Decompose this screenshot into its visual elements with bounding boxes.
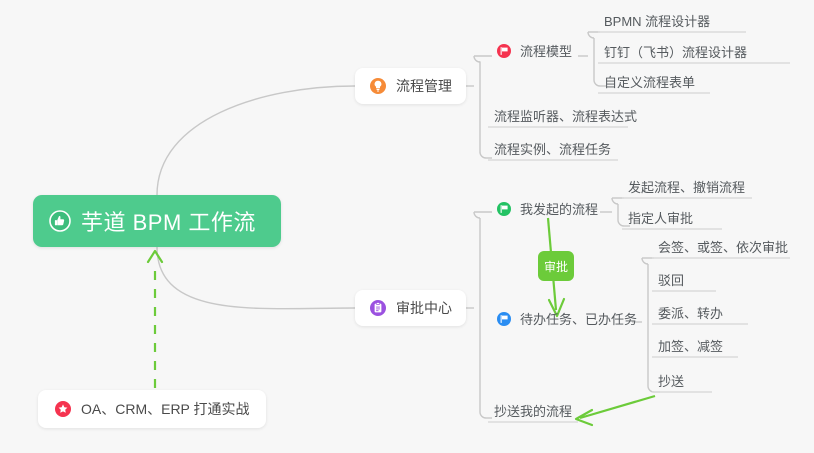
node-countersign[interactable]: 会签、或签、依次审批 (652, 234, 794, 258)
label-countersign: 会签、或签、依次审批 (658, 240, 788, 255)
branch-card-approval-center[interactable]: 审批中心 (355, 290, 466, 326)
lightbulb-icon (369, 77, 387, 95)
node-cc[interactable]: 抄送 (652, 368, 690, 392)
arrow-callout-to-root (148, 251, 162, 388)
label-process-model: 流程模型 (520, 44, 572, 59)
label-custom-form: 自定义流程表单 (604, 75, 695, 90)
node-todo-done-tasks[interactable]: 待办任务、已办任务 (490, 306, 643, 330)
label-todo-done-tasks: 待办任务、已办任务 (520, 312, 637, 327)
edge-root-to-approval-center (157, 247, 355, 309)
label-assignee-approval: 指定人审批 (628, 211, 693, 226)
label-reject: 驳回 (658, 273, 684, 288)
label-my-initiated-process: 我发起的流程 (520, 202, 598, 217)
node-process-model[interactable]: 流程模型 (490, 38, 578, 62)
edge-pm-corner-top (474, 56, 480, 62)
flag-icon-red (496, 43, 512, 59)
branch-label-process-management: 流程管理 (396, 76, 452, 96)
edge-pm-corner-bottom (480, 152, 486, 158)
node-add-remove-sign[interactable]: 加签、减签 (652, 333, 729, 357)
node-custom-form[interactable]: 自定义流程表单 (598, 69, 701, 93)
label-add-remove-sign: 加签、减签 (658, 339, 723, 354)
label-delegate-transfer: 委派、转办 (658, 306, 723, 321)
label-bpmn-designer: BPMN 流程设计器 (604, 14, 710, 29)
edge-root-to-process-management (157, 86, 355, 195)
label-dingtalk-designer: 钉钉（飞书）流程设计器 (604, 45, 747, 60)
edge-ac-corner-bot (480, 412, 486, 418)
node-dingtalk-designer[interactable]: 钉钉（飞书）流程设计器 (598, 39, 753, 63)
callout-card-integration[interactable]: OA、CRM、ERP 打通实战 (38, 390, 266, 428)
node-cc-my-process[interactable]: 抄送我的流程 (488, 398, 578, 422)
node-process-instance[interactable]: 流程实例、流程任务 (488, 136, 617, 160)
label-process-instance: 流程实例、流程任务 (494, 142, 611, 157)
edge-ac-corner-top (474, 212, 480, 218)
label-start-cancel-process: 发起流程、撤销流程 (628, 180, 745, 195)
label-process-listener: 流程监听器、流程表达式 (494, 109, 637, 124)
edge-mine-corner-top (612, 198, 618, 204)
root-label: 芋道 BPM 工作流 (81, 205, 256, 237)
node-my-initiated-process[interactable]: 我发起的流程 (490, 196, 604, 220)
label-cc: 抄送 (658, 374, 684, 389)
branch-label-approval-center: 审批中心 (396, 298, 452, 318)
callout-label: OA、CRM、ERP 打通实战 (81, 399, 250, 419)
node-start-cancel-process[interactable]: 发起流程、撤销流程 (622, 174, 751, 198)
node-delegate-transfer[interactable]: 委派、转办 (652, 300, 729, 324)
node-assignee-approval[interactable]: 指定人审批 (622, 205, 699, 229)
label-cc-my-process: 抄送我的流程 (494, 404, 572, 419)
root-node[interactable]: 芋道 BPM 工作流 (33, 195, 281, 247)
clipboard-icon (369, 299, 387, 317)
node-process-listener[interactable]: 流程监听器、流程表达式 (488, 103, 643, 127)
edge-pmodel-corner-top (588, 32, 594, 38)
node-bpmn-designer[interactable]: BPMN 流程设计器 (598, 8, 716, 32)
arrow-cc-to-cc-my-process (576, 396, 655, 425)
flag-icon-green (496, 201, 512, 217)
flag-icon-blue (496, 311, 512, 327)
edge-todo-corner-top (642, 258, 648, 264)
approval-annotation-tag: 审批 (538, 251, 574, 281)
thumbs-up-icon (49, 210, 71, 232)
mindmap-canvas: 芋道 BPM 工作流 OA、CRM、ERP 打通实战 流程管理 (0, 0, 814, 453)
branch-card-process-management[interactable]: 流程管理 (355, 68, 466, 104)
node-reject[interactable]: 驳回 (652, 267, 690, 291)
star-icon (54, 400, 72, 418)
approval-annotation-label: 审批 (544, 258, 568, 275)
